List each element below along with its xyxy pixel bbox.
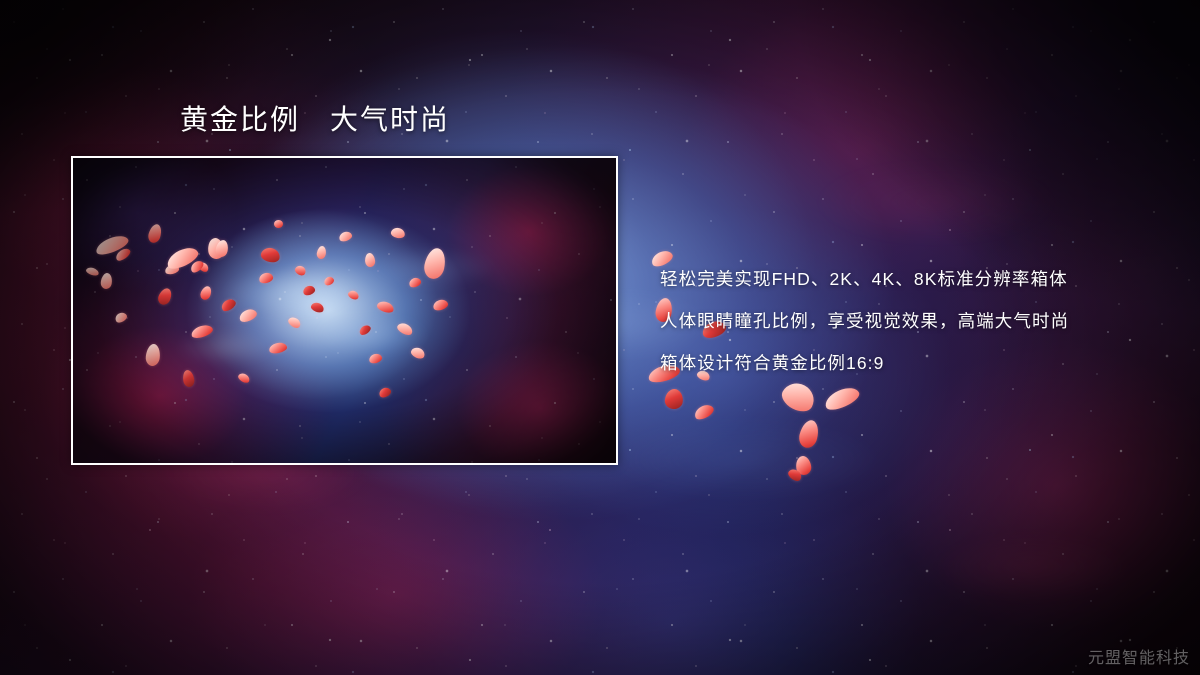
body-copy-block: 轻松完美实现FHD、2K、4K、8K标准分辨率箱体 人体眼睛瞳孔比例，享受视觉效…	[660, 258, 1180, 384]
presentation-slide: 黄金比例 大气时尚	[0, 0, 1200, 675]
petal	[664, 388, 684, 410]
petal	[692, 402, 715, 422]
framed-image-vignette	[73, 158, 616, 463]
body-line-1: 轻松完美实现FHD、2K、4K、8K标准分辨率箱体	[660, 258, 1180, 300]
framed-image-panel	[71, 156, 618, 465]
body-line-2: 人体眼睛瞳孔比例，享受视觉效果，高端大气时尚	[660, 300, 1180, 342]
watermark: 元盟智能科技	[1088, 644, 1190, 668]
body-line-3: 箱体设计符合黄金比例16:9	[660, 342, 1180, 384]
petal	[822, 383, 862, 413]
petal	[797, 418, 821, 450]
slide-title: 黄金比例 大气时尚	[180, 103, 450, 137]
